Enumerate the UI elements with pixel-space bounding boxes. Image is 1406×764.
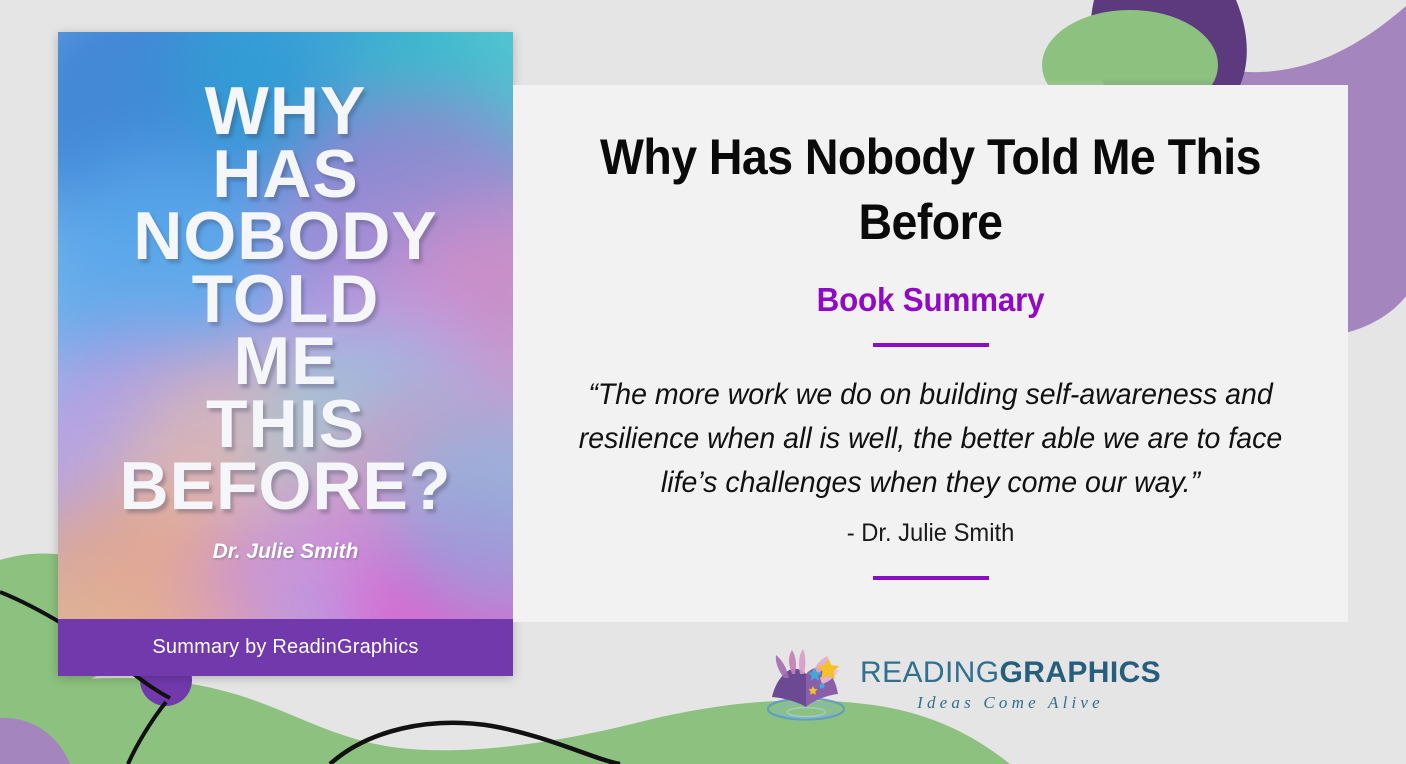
stem-arc-bottom bbox=[330, 723, 620, 764]
page-title: Why Has Nobody Told Me This Before bbox=[598, 125, 1263, 255]
cover-title-line: TOLD bbox=[76, 268, 495, 331]
cover-title-line: THIS bbox=[76, 393, 495, 456]
readingraphics-logo: READINGGRAPHICS Ideas Come Alive bbox=[762, 644, 1102, 726]
cover-title-line: HAS bbox=[76, 143, 495, 206]
divider-bottom bbox=[873, 576, 989, 580]
quote-text: “The more work we do on building self-aw… bbox=[560, 373, 1300, 505]
logo-word-reading: READING bbox=[860, 656, 1000, 689]
logo-word-graphics: GRAPHICS bbox=[1000, 656, 1162, 689]
cover-title-line: BEFORE? bbox=[76, 455, 495, 518]
cover-title-block: WHY HAS NOBODY TOLD ME THIS BEFORE? Dr. … bbox=[58, 32, 513, 676]
cover-title-line: WHY bbox=[76, 80, 495, 143]
book-cover: WHY HAS NOBODY TOLD ME THIS BEFORE? Dr. … bbox=[58, 32, 513, 676]
logo-tagline: Ideas Come Alive bbox=[917, 693, 1104, 713]
cover-title-line: ME bbox=[76, 330, 495, 393]
content-card: Why Has Nobody Told Me This Before Book … bbox=[513, 85, 1348, 622]
subtitle: Book Summary bbox=[534, 281, 1327, 319]
cover-author: Dr. Julie Smith bbox=[76, 540, 495, 564]
cover-summary-band: Summary by ReadinGraphics bbox=[58, 619, 513, 676]
quote-attribution: - Dr. Julie Smith bbox=[534, 519, 1327, 548]
cover-title-line: NOBODY bbox=[76, 205, 495, 268]
stem-line-lower bbox=[128, 702, 166, 764]
cover-summary-band-label: Summary by ReadinGraphics bbox=[152, 636, 418, 659]
logo-typography: READINGGRAPHICS Ideas Come Alive bbox=[860, 658, 1161, 713]
open-book-with-stars-logo-icon bbox=[762, 648, 850, 722]
slide-canvas: WHY HAS NOBODY TOLD ME THIS BEFORE? Dr. … bbox=[0, 0, 1406, 764]
logo-wordmark: READINGGRAPHICS bbox=[860, 658, 1161, 688]
divider-top bbox=[873, 343, 989, 347]
mauve-corner-circle bbox=[0, 718, 70, 764]
